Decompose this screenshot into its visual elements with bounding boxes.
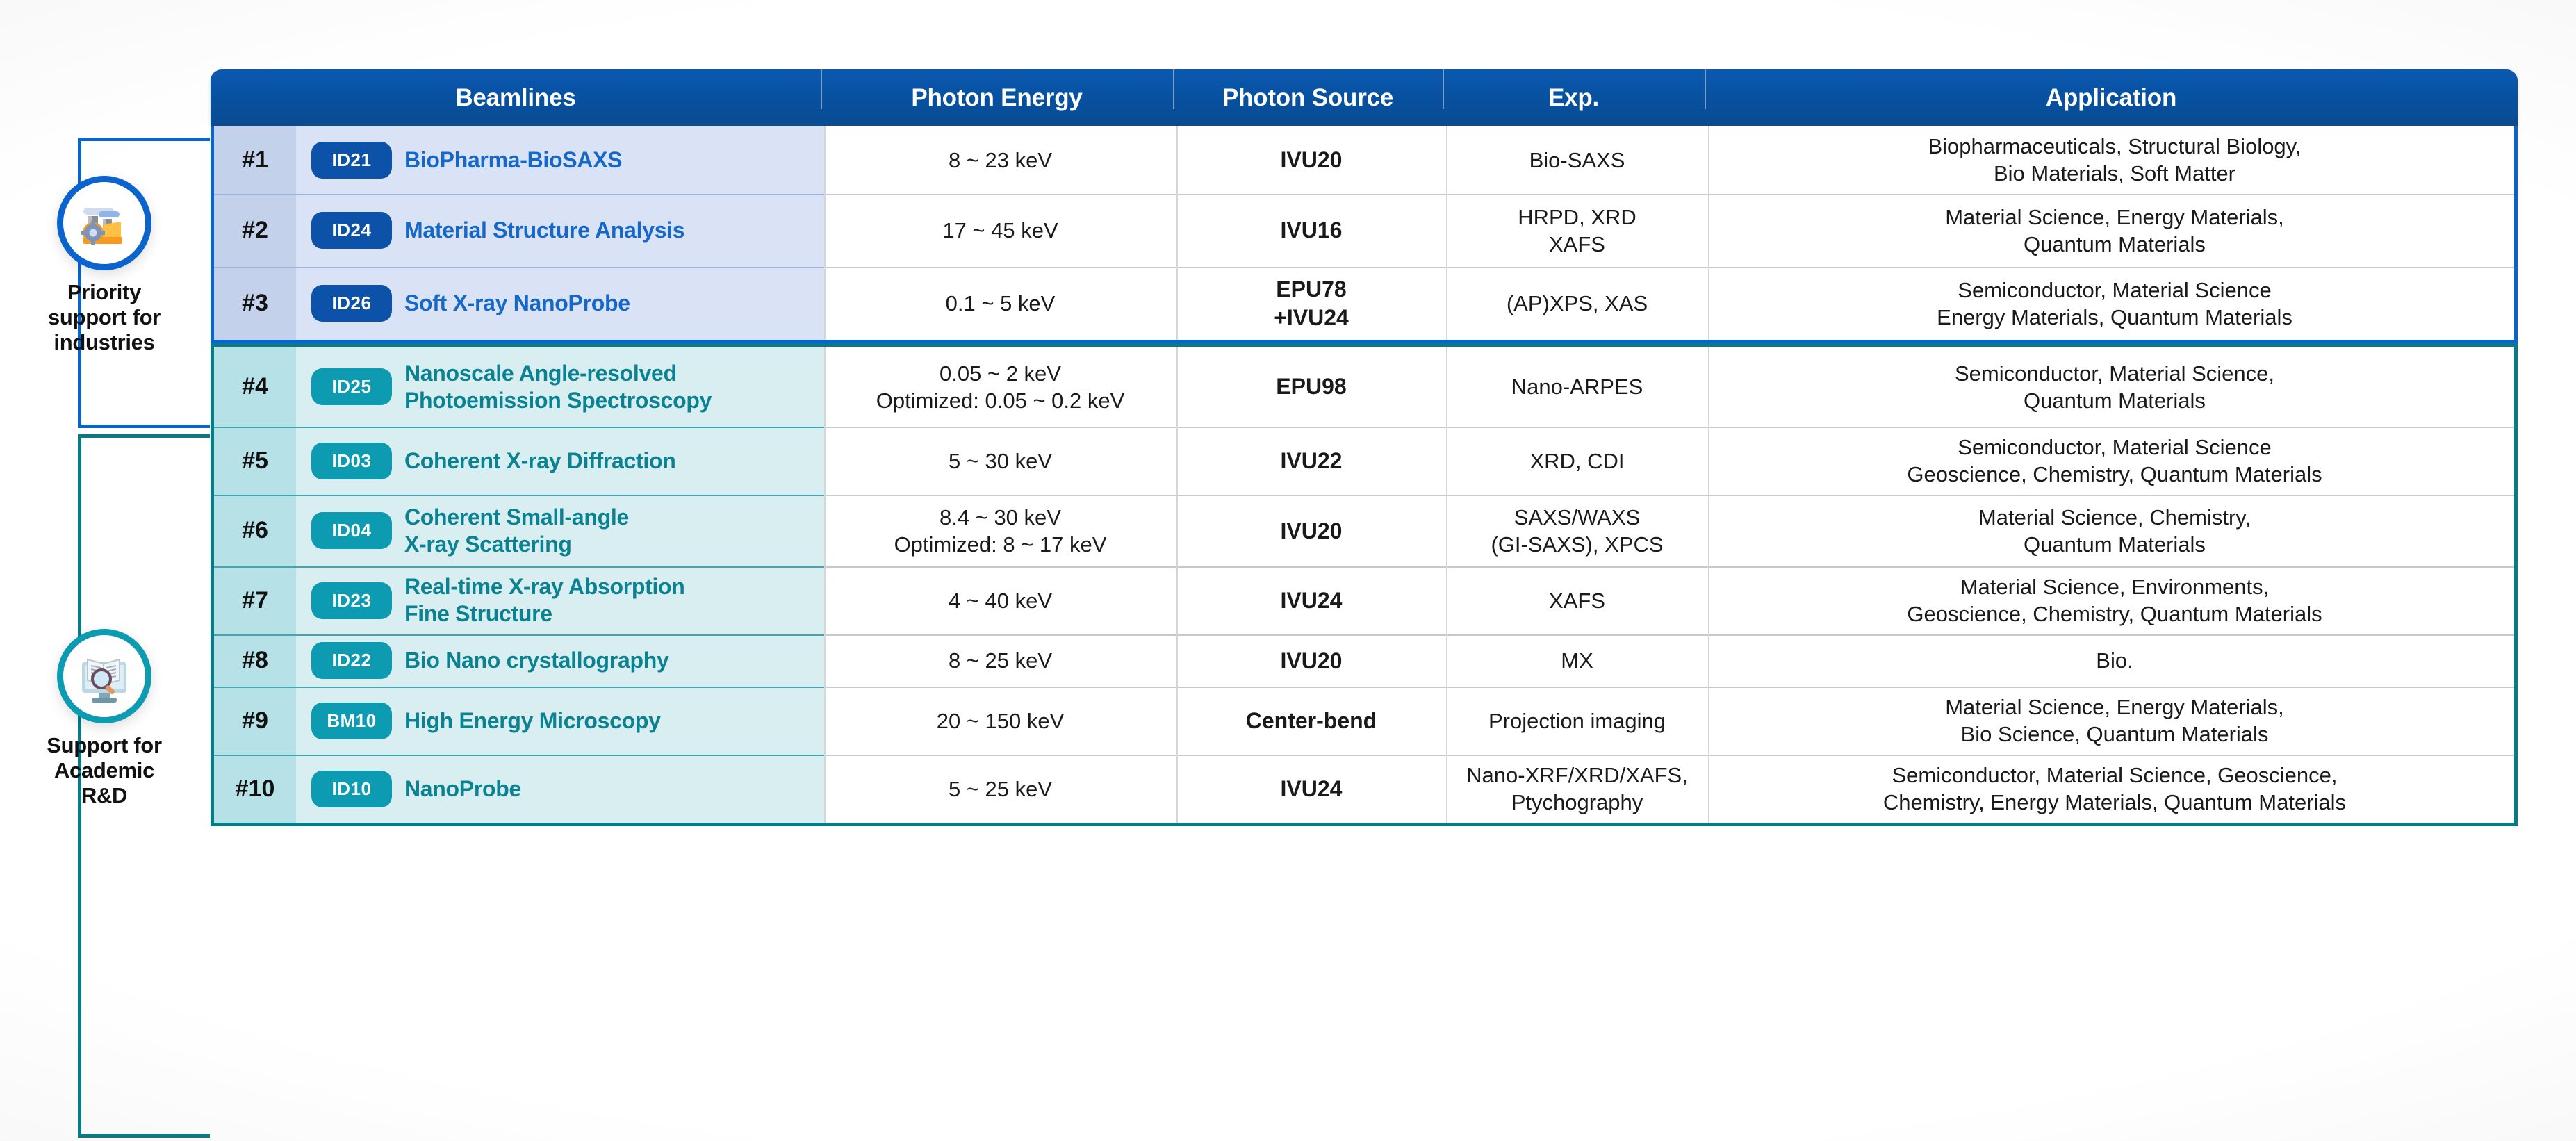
cell-row-number: #6 [214,495,296,566]
cell-photon-source: Center-bend [1176,687,1446,755]
cell-beamline: ID03 Coherent X-ray Diffraction [296,427,824,495]
beamline-id-badge[interactable]: ID23 [311,582,392,619]
cell-row-number: #10 [214,755,296,823]
beamline-name: BioPharma-BioSAXS [404,147,622,174]
cell-photon-energy: 20 ~ 150 keV [824,687,1176,755]
rail-group-priority-industries[interactable]: Priority support for industries [0,176,208,355]
cell-beamline: ID23 Real-time X-ray Absorption Fine Str… [296,566,824,634]
cell-beamline: ID21 BioPharma-BioSAXS [296,126,824,194]
cell-photon-energy: 5 ~ 25 keV [824,755,1176,823]
monitor-book-magnifier-icon [72,644,136,708]
cell-exp: HRPD, XRD XAFS [1446,194,1708,267]
cell-exp: Nano-ARPES [1446,347,1708,427]
cell-exp: MX [1446,634,1708,687]
cell-photon-source: IVU24 [1176,566,1446,634]
header-photon-source: Photon Source [1173,84,1443,112]
cell-beamline: ID26 Soft X-ray NanoProbe [296,267,824,340]
cell-photon-energy: 8 ~ 25 keV [824,634,1176,687]
cell-row-number: #8 [214,634,296,687]
cell-exp: XAFS [1446,566,1708,634]
cell-photon-energy: 8.4 ~ 30 keV Optimized: 8 ~ 17 keV [824,495,1176,566]
cell-beamline: ID22 Bio Nano crystallography [296,634,824,687]
cell-photon-source: IVU16 [1176,194,1446,267]
cell-photon-source: EPU98 [1176,347,1446,427]
beamline-name: High Energy Microscopy [404,707,661,734]
rail-label-academic-rd: Support for Academic R&D [0,733,208,808]
factory-gear-icon [72,191,136,255]
cell-photon-source: IVU20 [1176,634,1446,687]
header-application: Application [1705,84,2518,112]
header-beamlines: Beamlines [211,84,821,112]
beamline-id-badge[interactable]: ID10 [311,771,392,807]
cell-photon-source: IVU20 [1176,495,1446,566]
cell-exp: Bio-SAXS [1446,126,1708,194]
cell-photon-energy: 8 ~ 23 keV [824,126,1176,194]
beamlines-table: Beamlines Photon Energy Photon Source Ex… [211,69,2518,826]
cell-application: Semiconductor, Material Science Energy M… [1708,267,2521,340]
beamline-id-badge[interactable]: ID22 [311,642,392,679]
table-row[interactable]: #10 ID10 NanoProbe 5 ~ 25 keV IVU24 Nano… [214,755,2514,823]
cell-photon-energy: 0.1 ~ 5 keV [824,267,1176,340]
cell-beamline: ID25 Nanoscale Angle-resolved Photoemiss… [296,347,824,427]
cell-application: Material Science, Environments, Geoscien… [1708,566,2521,634]
cell-application: Material Science, Chemistry, Quantum Mat… [1708,495,2521,566]
cell-row-number: #2 [214,194,296,267]
header-photon-energy: Photon Energy [821,84,1173,112]
beamline-name: Nanoscale Angle-resolved Photoemission S… [404,360,712,414]
table-row[interactable]: #5 ID03 Coherent X-ray Diffraction 5 ~ 3… [214,427,2514,495]
cell-application: Semiconductor, Material Science, Geoscie… [1708,755,2521,823]
cell-row-number: #9 [214,687,296,755]
beamline-overview-page: Priority support for industries [0,0,2576,1141]
cell-application: Material Science, Energy Materials, Bio … [1708,687,2521,755]
header-exp: Exp. [1443,84,1705,112]
rail-label-priority-industries: Priority support for industries [0,280,208,355]
beamline-id-badge[interactable]: ID24 [311,212,392,249]
cell-exp: (AP)XPS, XAS [1446,267,1708,340]
table-body: #1 ID21 BioPharma-BioSAXS 8 ~ 23 keV IVU… [211,126,2518,826]
beamline-name: Coherent Small-angle X-ray Scattering [404,504,629,558]
table-row[interactable]: #7 ID23 Real-time X-ray Absorption Fine … [214,566,2514,634]
beamline-id-badge[interactable]: ID25 [311,368,392,405]
table-row[interactable]: #2 ID24 Material Structure Analysis 17 ~… [214,194,2514,267]
cell-photon-source: IVU24 [1176,755,1446,823]
table-row[interactable]: #6 ID04 Coherent Small-angle X-ray Scatt… [214,495,2514,566]
cell-beamline: ID24 Material Structure Analysis [296,194,824,267]
cell-beamline: ID10 NanoProbe [296,755,824,823]
cell-application: Semiconductor, Material Science Geoscien… [1708,427,2521,495]
beamline-name: Coherent X-ray Diffraction [404,448,675,475]
beamline-name: NanoProbe [404,775,521,803]
beamline-id-badge[interactable]: ID21 [311,142,392,179]
table-section-teal: #4 ID25 Nanoscale Angle-resolved Photoem… [211,343,2518,826]
cell-photon-energy: 4 ~ 40 keV [824,566,1176,634]
cell-exp: XRD, CDI [1446,427,1708,495]
cell-photon-energy: 17 ~ 45 keV [824,194,1176,267]
cell-photon-source: IVU22 [1176,427,1446,495]
beamline-id-badge[interactable]: ID26 [311,285,392,322]
cell-photon-energy: 5 ~ 30 keV [824,427,1176,495]
cell-exp: SAXS/WAXS (GI-SAXS), XPCS [1446,495,1708,566]
factory-gear-icon-circle [57,176,151,270]
cell-application: Material Science, Energy Materials, Quan… [1708,194,2521,267]
cell-exp: Nano-XRF/XRD/XAFS, Ptychography [1446,755,1708,823]
table-section-blue: #1 ID21 BioPharma-BioSAXS 8 ~ 23 keV IVU… [211,126,2518,343]
beamline-name: Soft X-ray NanoProbe [404,290,630,317]
beamline-id-badge[interactable]: BM10 [311,703,392,739]
category-rail: Priority support for industries [0,0,208,1141]
table-row[interactable]: #4 ID25 Nanoscale Angle-resolved Photoem… [214,347,2514,427]
cell-application: Semiconductor, Material Science, Quantum… [1708,347,2521,427]
beamline-name: Real-time X-ray Absorption Fine Structur… [404,573,685,627]
cell-beamline: ID04 Coherent Small-angle X-ray Scatteri… [296,495,824,566]
cell-photon-energy: 0.05 ~ 2 keV Optimized: 0.05 ~ 0.2 keV [824,347,1176,427]
table-row[interactable]: #8 ID22 Bio Nano crystallography 8 ~ 25 … [214,634,2514,687]
cell-row-number: #3 [214,267,296,340]
table-header-row: Beamlines Photon Energy Photon Source Ex… [211,69,2518,126]
beamline-id-badge[interactable]: ID04 [311,512,392,549]
cell-photon-source: IVU20 [1176,126,1446,194]
cell-row-number: #4 [214,347,296,427]
cell-beamline: BM10 High Energy Microscopy [296,687,824,755]
beamline-id-badge[interactable]: ID03 [311,443,392,479]
cell-row-number: #1 [214,126,296,194]
cell-row-number: #7 [214,566,296,634]
cell-application: Bio. [1708,634,2521,687]
table-row[interactable]: #9 BM10 High Energy Microscopy 20 ~ 150 … [214,687,2514,755]
monitor-book-magnifier-icon-circle [57,629,151,723]
cell-row-number: #5 [214,427,296,495]
table-row[interactable]: #1 ID21 BioPharma-BioSAXS 8 ~ 23 keV IVU… [214,126,2514,194]
table-row[interactable]: #3 ID26 Soft X-ray NanoProbe 0.1 ~ 5 keV… [214,267,2514,340]
cell-exp: Projection imaging [1446,687,1708,755]
beamline-name: Material Structure Analysis [404,217,684,244]
cell-application: Biopharmaceuticals, Structural Biology, … [1708,126,2521,194]
beamline-name: Bio Nano crystallography [404,647,668,674]
cell-photon-source: EPU78 +IVU24 [1176,267,1446,340]
rail-group-academic-rd[interactable]: Support for Academic R&D [0,629,208,808]
